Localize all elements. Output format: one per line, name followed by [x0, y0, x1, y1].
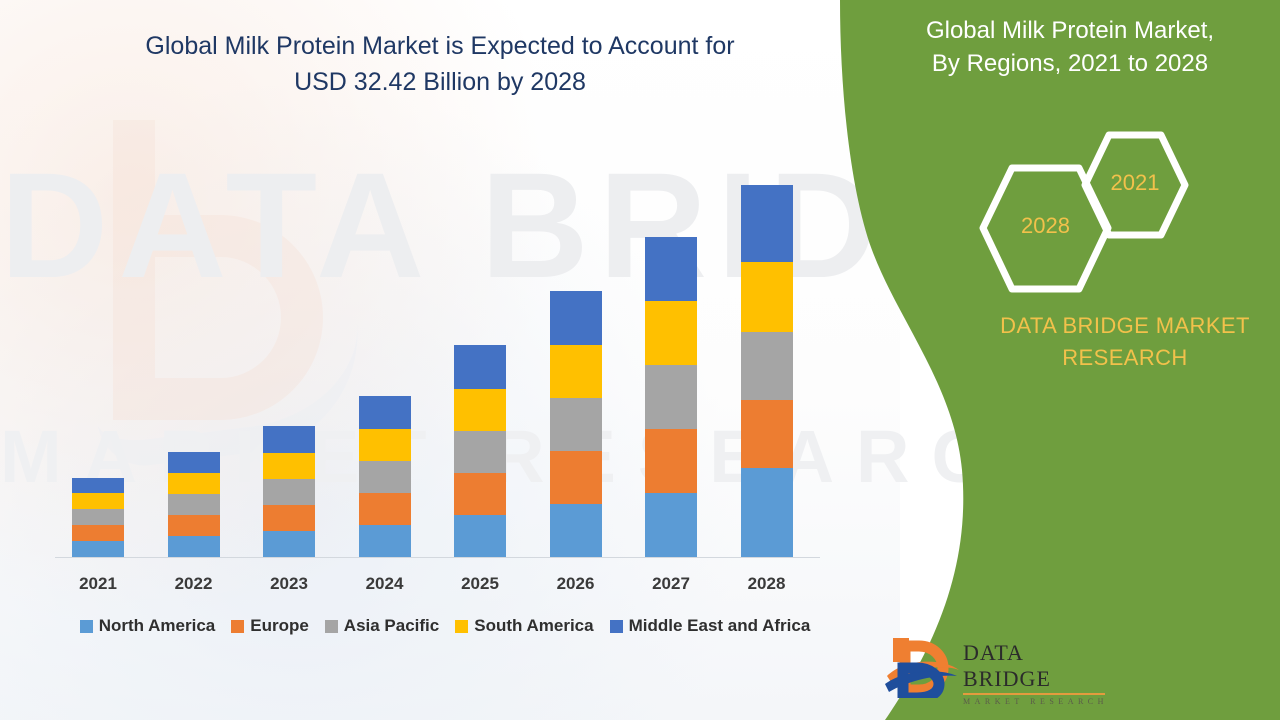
- legend-label: Asia Pacific: [344, 616, 439, 636]
- bar-2027[interactable]: [645, 237, 697, 557]
- bar-segment[interactable]: [550, 398, 602, 451]
- panel-title: Global Milk Protein Market, By Regions, …: [860, 14, 1280, 80]
- bar-2021[interactable]: [72, 478, 124, 557]
- logo-mark-icon: [885, 636, 965, 698]
- logo-main-text: DATA BRIDGE: [963, 640, 1113, 692]
- infographic-canvas: DATA BRIDGE MARKET RESEARCH Global Milk …: [0, 0, 1280, 720]
- bar-segment[interactable]: [72, 525, 124, 541]
- bar-segment[interactable]: [72, 493, 124, 509]
- x-axis-label-2027: 2027: [626, 574, 716, 594]
- legend-item-europe[interactable]: Europe: [231, 616, 309, 636]
- bar-segment[interactable]: [645, 237, 697, 301]
- legend-item-middle-east-and-africa[interactable]: Middle East and Africa: [610, 616, 811, 636]
- legend-item-south-america[interactable]: South America: [455, 616, 593, 636]
- x-axis-label-2025: 2025: [435, 574, 525, 594]
- panel-brand-text: DATA BRIDGE MARKET RESEARCH: [960, 310, 1280, 374]
- bar-segment[interactable]: [168, 494, 220, 515]
- hexagon-group: 2028 2021: [978, 130, 1208, 295]
- bar-segment[interactable]: [550, 504, 602, 557]
- legend-label: Europe: [250, 616, 309, 636]
- bar-2022[interactable]: [168, 452, 220, 557]
- panel-brand-line-1: DATA BRIDGE MARKET: [960, 310, 1280, 342]
- bar-segment[interactable]: [263, 505, 315, 531]
- legend-label: Middle East and Africa: [629, 616, 811, 636]
- bar-segment[interactable]: [263, 426, 315, 453]
- bar-segment[interactable]: [359, 493, 411, 525]
- bar-segment[interactable]: [645, 493, 697, 557]
- x-axis-label-2024: 2024: [340, 574, 430, 594]
- x-axis-label-2021: 2021: [53, 574, 143, 594]
- bar-2028[interactable]: [741, 185, 793, 557]
- legend-swatch-icon: [455, 620, 468, 633]
- bar-segment[interactable]: [263, 479, 315, 505]
- legend-swatch-icon: [325, 620, 338, 633]
- x-axis-label-2023: 2023: [244, 574, 334, 594]
- bar-segment[interactable]: [263, 453, 315, 479]
- panel-title-line-2: By Regions, 2021 to 2028: [860, 47, 1280, 80]
- logo-sub-text: MARKET RESEARCH: [963, 697, 1113, 706]
- bar-segment[interactable]: [168, 473, 220, 494]
- panel-title-line-1: Global Milk Protein Market,: [860, 14, 1280, 47]
- legend-item-north-america[interactable]: North America: [80, 616, 216, 636]
- hexagon-2021: 2021: [1080, 130, 1190, 240]
- bar-segment[interactable]: [550, 345, 602, 398]
- x-axis-label-2028: 2028: [722, 574, 812, 594]
- bar-segment[interactable]: [550, 291, 602, 345]
- bar-segment[interactable]: [741, 262, 793, 332]
- x-axis-line: [55, 557, 820, 558]
- bar-segment[interactable]: [645, 429, 697, 493]
- bar-segment[interactable]: [359, 429, 411, 461]
- logo-divider: [963, 693, 1105, 695]
- x-axis-label-2026: 2026: [531, 574, 621, 594]
- stacked-bar-chart: 20212022202320242025202620272028: [0, 0, 860, 720]
- chart-legend: North AmericaEuropeAsia PacificSouth Ame…: [50, 616, 840, 636]
- bar-segment[interactable]: [454, 515, 506, 557]
- bar-segment[interactable]: [263, 531, 315, 557]
- bar-segment[interactable]: [72, 541, 124, 557]
- bar-segment[interactable]: [168, 452, 220, 473]
- bar-segment[interactable]: [359, 525, 411, 557]
- bar-segment[interactable]: [359, 396, 411, 429]
- logo-wordmark: DATA BRIDGE MARKET RESEARCH: [963, 640, 1113, 706]
- bar-2026[interactable]: [550, 291, 602, 557]
- legend-label: North America: [99, 616, 216, 636]
- bar-segment[interactable]: [645, 365, 697, 429]
- legend-label: South America: [474, 616, 593, 636]
- bar-segment[interactable]: [645, 301, 697, 365]
- legend-item-asia-pacific[interactable]: Asia Pacific: [325, 616, 439, 636]
- panel-brand-line-2: RESEARCH: [960, 342, 1280, 374]
- bar-segment[interactable]: [72, 478, 124, 493]
- bar-segment[interactable]: [550, 451, 602, 504]
- x-axis-label-2022: 2022: [149, 574, 239, 594]
- legend-swatch-icon: [231, 620, 244, 633]
- legend-swatch-icon: [80, 620, 93, 633]
- bar-segment[interactable]: [454, 473, 506, 515]
- bar-segment[interactable]: [741, 332, 793, 400]
- bar-2025[interactable]: [454, 345, 506, 557]
- bar-segment[interactable]: [741, 468, 793, 557]
- hexagon-2021-label: 2021: [1080, 170, 1190, 196]
- data-bridge-logo: DATA BRIDGE MARKET RESEARCH: [885, 636, 1105, 698]
- bar-segment[interactable]: [168, 536, 220, 557]
- bar-segment[interactable]: [454, 431, 506, 473]
- bar-segment[interactable]: [168, 515, 220, 536]
- bar-segment[interactable]: [741, 400, 793, 468]
- legend-swatch-icon: [610, 620, 623, 633]
- bar-2023[interactable]: [263, 426, 315, 557]
- bar-segment[interactable]: [454, 389, 506, 431]
- bar-segment[interactable]: [359, 461, 411, 493]
- bar-segment[interactable]: [454, 345, 506, 389]
- bar-2024[interactable]: [359, 396, 411, 557]
- bar-segment[interactable]: [741, 185, 793, 262]
- bar-segment[interactable]: [72, 509, 124, 525]
